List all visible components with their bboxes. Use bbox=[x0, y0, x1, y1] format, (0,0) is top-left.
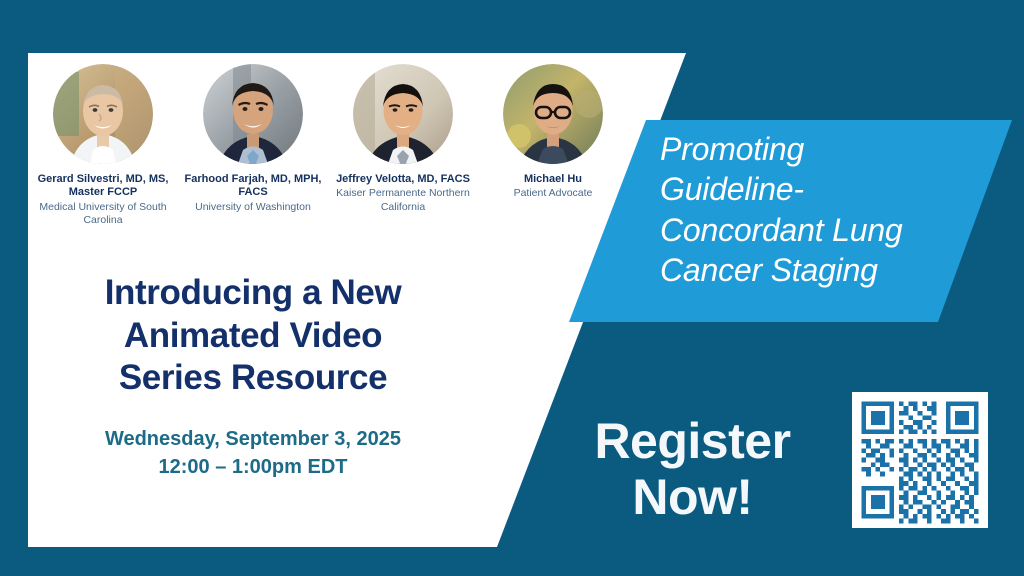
speaker-affiliation: University of Washington bbox=[178, 201, 328, 214]
qr-code[interactable] bbox=[852, 392, 988, 528]
headshot-michael-hu bbox=[503, 64, 603, 164]
speaker-card: Farhood Farjah, MD, MPH, FACS University… bbox=[178, 64, 328, 214]
banner-title: Promoting Guideline- Concordant Lung Can… bbox=[660, 129, 990, 290]
register-now-label[interactable]: Register Now! bbox=[565, 413, 820, 525]
speaker-name: Gerard Silvestri, MD, MS, Master FCCP bbox=[28, 173, 178, 200]
headshot-gerard-silvestri bbox=[53, 64, 153, 164]
speaker-name: Farhood Farjah, MD, MPH, FACS bbox=[178, 173, 328, 200]
speaker-affiliation: Patient Advocate bbox=[478, 187, 628, 200]
speaker-name: Jeffrey Velotta, MD, FACS bbox=[328, 173, 478, 186]
headshot-jeffrey-velotta bbox=[353, 64, 453, 164]
speakers-row: Gerard Silvestri, MD, MS, Master FCCP Me… bbox=[28, 64, 628, 227]
headshot-farhood-farjah bbox=[203, 64, 303, 164]
page-title: Introducing a New Animated Video Series … bbox=[28, 272, 478, 400]
speaker-affiliation: Kaiser Permanente Northern California bbox=[328, 187, 478, 213]
speaker-card: Michael Hu Patient Advocate bbox=[478, 64, 628, 201]
event-datetime: Wednesday, September 3, 2025 12:00 – 1:0… bbox=[28, 425, 478, 482]
speaker-name: Michael Hu bbox=[478, 173, 628, 186]
speaker-affiliation: Medical University of South Carolina bbox=[28, 201, 178, 227]
speaker-card: Jeffrey Velotta, MD, FACS Kaiser Permane… bbox=[328, 64, 478, 214]
qr-code-icon bbox=[852, 392, 988, 528]
speaker-card: Gerard Silvestri, MD, MS, Master FCCP Me… bbox=[28, 64, 178, 227]
webinar-promo-poster: Promoting Guideline- Concordant Lung Can… bbox=[0, 0, 1024, 576]
